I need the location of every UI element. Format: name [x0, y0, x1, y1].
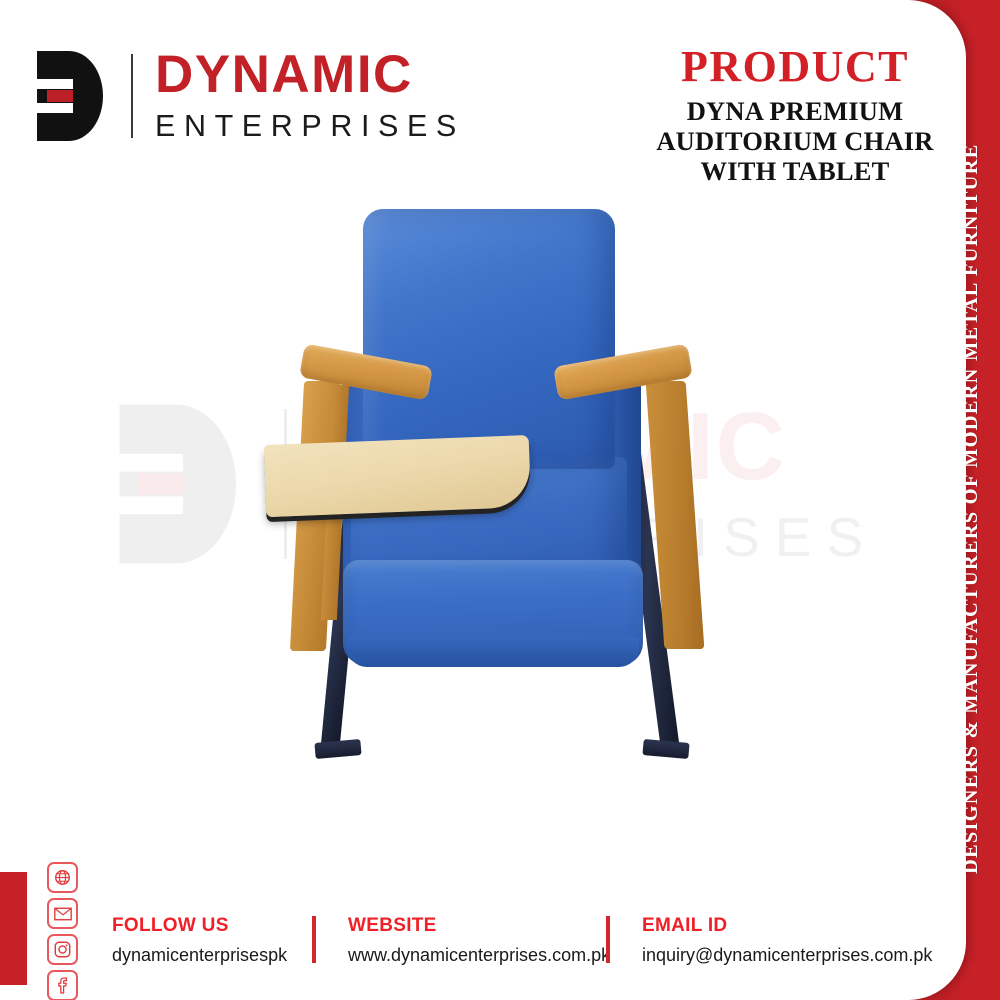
chair-seat-front: [347, 637, 639, 667]
contact-value[interactable]: www.dynamicenterprises.com.pk: [348, 942, 606, 969]
contact-label: FOLLOW US: [112, 914, 312, 938]
brand-logo: DYNAMIC ENTERPRISES: [33, 48, 465, 144]
product-name: DYNA PREMIUM AUDITORIUM CHAIR WITH TABLE…: [640, 97, 950, 186]
header: DYNAMIC ENTERPRISES PRODUCT DYNA PREMIUM…: [0, 0, 966, 200]
chair-backrest: [363, 209, 615, 469]
contact-column-email: EMAIL ID inquiry@dynamicenterprises.com.…: [610, 914, 940, 969]
product-name-line-3: WITH TABLET: [640, 157, 950, 187]
chair-foot-left: [314, 739, 361, 759]
watermark-monogram-icon: [112, 401, 240, 567]
contact-label: WEBSITE: [348, 914, 606, 938]
contact-value[interactable]: inquiry@dynamicenterprises.com.pk: [642, 942, 940, 969]
footer: FOLLOW US dynamicenterprisespk WEBSITE w…: [0, 862, 966, 1000]
brand-name-bottom: ENTERPRISES: [155, 109, 465, 144]
footer-accent-bar: [0, 872, 27, 985]
product-title-block: PRODUCT DYNA PREMIUM AUDITORIUM CHAIR WI…: [640, 44, 950, 186]
chair-foot-right: [642, 739, 689, 759]
logo-divider: [131, 54, 133, 138]
contact-column-follow-us: FOLLOW US dynamicenterprisespk: [112, 914, 312, 969]
brand-wordmark: DYNAMIC ENTERPRISES: [155, 48, 465, 144]
brand-name-top: DYNAMIC: [155, 48, 465, 101]
facebook-icon[interactable]: [47, 970, 78, 1000]
contact-label: EMAIL ID: [642, 914, 940, 938]
contact-info-row: FOLLOW US dynamicenterprisespk WEBSITE w…: [112, 914, 940, 969]
chair-writing-tablet: [264, 435, 532, 517]
product-flyer: DYNAMIC ENTERPRISES PRODUCT DYNA PREMIUM…: [0, 0, 1000, 1000]
contact-column-website: WEBSITE www.dynamicenterprises.com.pk: [316, 914, 606, 969]
contact-value[interactable]: dynamicenterprisespk: [112, 942, 312, 969]
globe-icon[interactable]: [47, 862, 78, 893]
email-icon[interactable]: [47, 898, 78, 929]
product-photo: [255, 185, 725, 785]
content-panel: DYNAMIC ENTERPRISES PRODUCT DYNA PREMIUM…: [0, 0, 966, 1000]
instagram-icon[interactable]: [47, 934, 78, 965]
product-name-line-2: AUDITORIUM CHAIR: [640, 127, 950, 157]
dynamic-enterprises-monogram-icon: [33, 49, 105, 143]
social-icon-list: [47, 862, 78, 1000]
product-name-line-1: DYNA PREMIUM: [640, 97, 950, 127]
product-kicker: PRODUCT: [640, 44, 950, 90]
side-band-text: DESIGNERS & MANUFACTURERS OF MODERN META…: [960, 44, 1000, 974]
